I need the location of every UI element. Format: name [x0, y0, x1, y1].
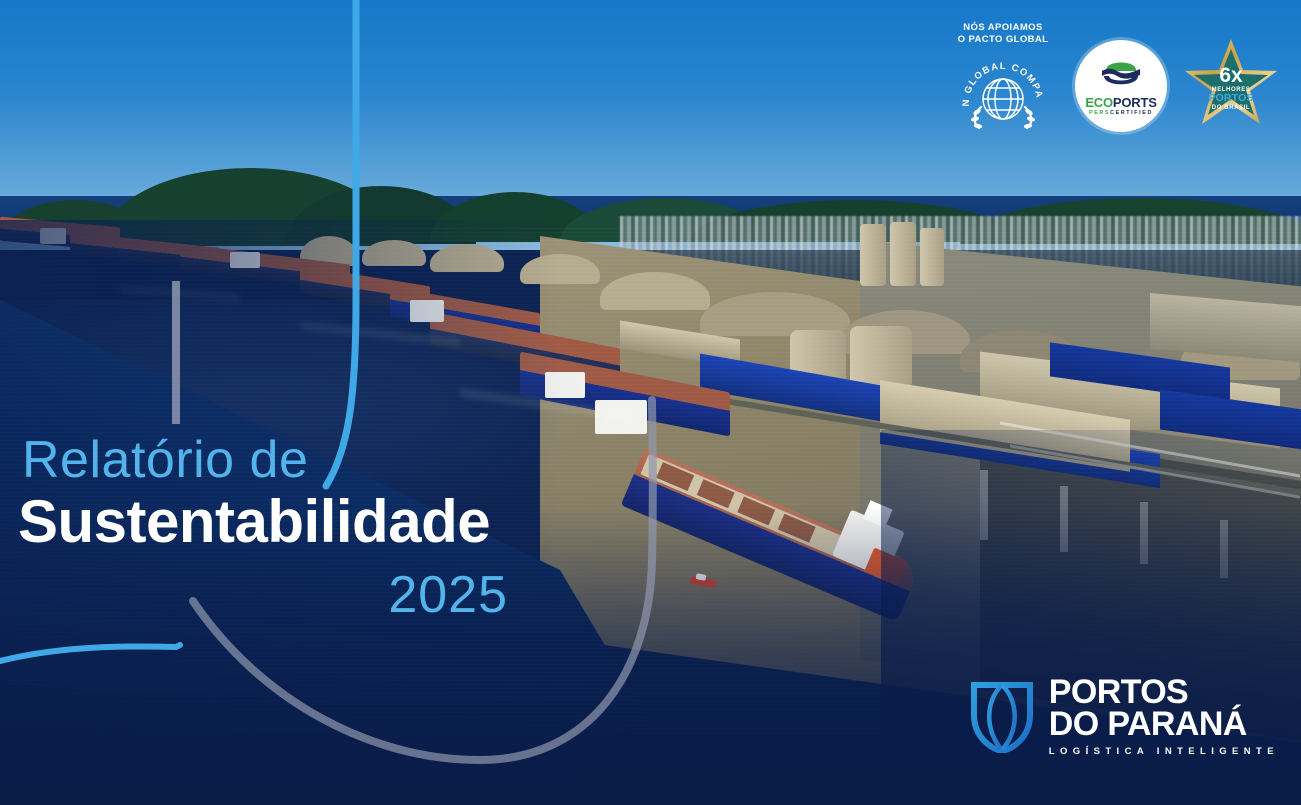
- ecoports-word-ports: PORTS: [1113, 95, 1157, 110]
- portos-do-parana-logo: PORTOS DO PARANÁ LOGÍSTICA INTELIGENTE: [969, 676, 1279, 757]
- brand-tagline: LOGÍSTICA INTELIGENTE: [1049, 746, 1279, 757]
- melhores-portos-badge: 6x MELHORES PORTOS DO BRASIL: [1183, 36, 1279, 132]
- brand-wordmark: PORTOS DO PARANÁ LOGÍSTICA INTELIGENTE: [1049, 676, 1279, 757]
- ungc-caption-line2: O PACTO GLOBAL: [958, 34, 1049, 46]
- ungc-caption: NÓS APOIAMOS O PACTO GLOBAL: [958, 22, 1049, 46]
- ecoports-word-eco: ECO: [1085, 95, 1113, 110]
- report-title-line2: Sustentabilidade: [18, 490, 508, 553]
- ecoports-sub-pers: PERS: [1089, 110, 1110, 116]
- star-line3: DO BRASIL: [1212, 105, 1250, 111]
- shield-globe-icon: [969, 679, 1035, 753]
- report-cover: Relatório de Sustentabilidade 2025 NÓS A…: [0, 0, 1301, 805]
- star-line2: PORTOS: [1208, 92, 1253, 104]
- star-number: 6x: [1219, 64, 1243, 87]
- ungc-caption-line1: NÓS APOIAMOS: [958, 22, 1049, 34]
- un-global-compact-badge: NÓS APOIAMOS O PACTO GLOBAL UN GLOBAL CO…: [947, 22, 1059, 131]
- ecoports-wordmark: ECOPORTS: [1085, 96, 1156, 109]
- ecoports-wave-icon: [1093, 56, 1149, 94]
- ecoports-sub-certified: CERTIFIED: [1110, 110, 1153, 116]
- star-icon: 6x MELHORES PORTOS DO BRASIL: [1183, 36, 1279, 132]
- svg-text:UN GLOBAL COMPACT: UN GLOBAL COMPACT: [955, 49, 1045, 107]
- certification-badges: NÓS APOIAMOS O PACTO GLOBAL UN GLOBAL CO…: [947, 22, 1279, 132]
- cover-title-block: Relatório de Sustentabilidade 2025: [18, 432, 508, 624]
- ecoports-inner: ECOPORTS PERSCERTIFIED: [1085, 56, 1156, 116]
- globe-laurel-icon: UN GLOBAL COMPACT: [955, 49, 1051, 131]
- report-title-year: 2025: [18, 567, 508, 624]
- ecoports-badge: ECOPORTS PERSCERTIFIED: [1075, 40, 1167, 132]
- report-title-line1: Relatório de: [22, 432, 508, 488]
- brand-line2: DO PARANÁ: [1049, 708, 1279, 741]
- brand-line1: PORTOS: [1049, 676, 1279, 709]
- ecoports-subtext: PERSCERTIFIED: [1089, 111, 1153, 116]
